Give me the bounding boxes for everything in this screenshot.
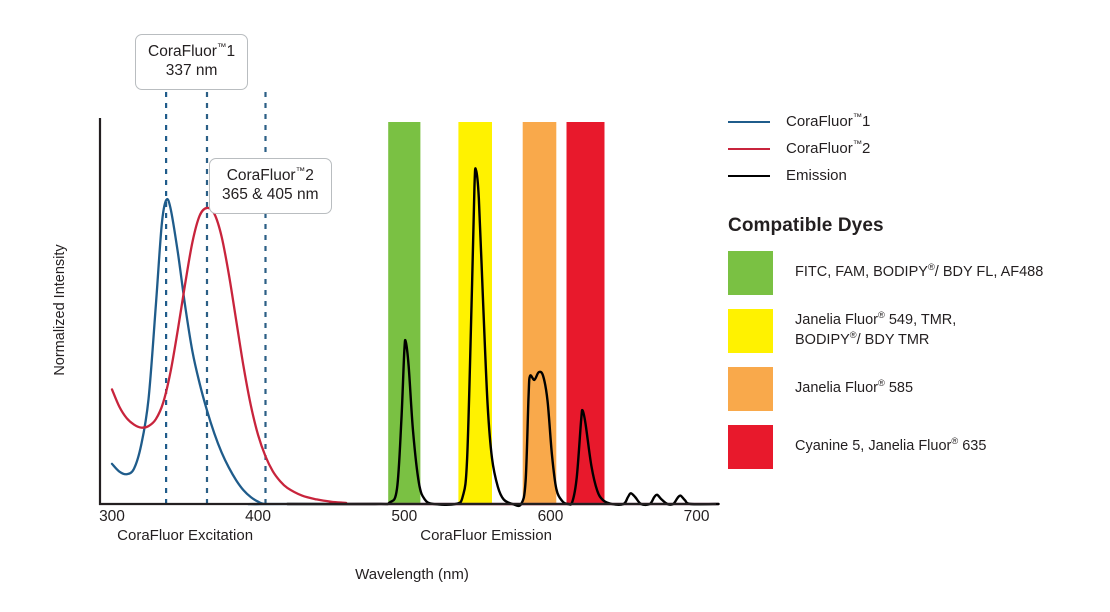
x-tick-600: 600 [538,508,564,526]
dye-label: Janelia Fluor® 549, TMR,BODIPY®/ BDY TMR [795,311,956,350]
dye-label-line: FITC, FAM, BODIPY®/ BDY FL, AF488 [795,263,1043,283]
dye-label-suffix: 585 [885,380,913,396]
callout-cf1-line1: CoraFluor™1 [148,42,235,61]
dye-label: FITC, FAM, BODIPY®/ BDY FL, AF488 [795,263,1043,283]
registered-trademark-icon: ® [878,311,885,321]
legend-line-swatch [728,175,770,177]
x-tick-700: 700 [684,508,710,526]
dye-label-line: Cyanine 5, Janelia Fluor® 635 [795,437,986,457]
x-axis-title: Wavelength (nm) [355,566,469,583]
dye-label-text: Cyanine 5, Janelia Fluor [795,438,951,454]
region-label-emission: CoraFluor Emission [420,527,552,544]
curve-emission [287,168,718,506]
legend-label-text: Emission [786,167,847,184]
compatible-dyes-list: FITC, FAM, BODIPY®/ BDY FL, AF488Janelia… [728,251,1100,469]
callout-cf1-line2: 337 nm [148,61,235,80]
dye-label-line: BODIPY®/ BDY TMR [795,331,956,351]
registered-trademark-icon: ® [878,378,885,388]
dye-row-3[interactable]: Cyanine 5, Janelia Fluor® 635 [728,425,1100,469]
dye-label-text: BODIPY [795,332,850,348]
dye-label: Janelia Fluor® 585 [795,379,913,399]
dye-label: Cyanine 5, Janelia Fluor® 635 [795,437,986,457]
curve-legend: CoraFluor™1CoraFluor™2Emission [728,108,1100,189]
callout-cf2-line2: 365 & 405 nm [222,185,319,204]
legend-item-label: CoraFluor™2 [786,140,870,157]
region-label-excitation: CoraFluor Excitation [117,527,253,544]
trademark-icon: ™ [853,112,862,122]
callout-cf2-line1: CoraFluor™2 [222,166,319,185]
y-axis-title: Normalized Intensity [52,244,68,375]
x-tick-400: 400 [245,508,271,526]
dye-label-text: Janelia Fluor [795,312,878,328]
trademark-icon: ™ [296,166,306,177]
dye-row-2[interactable]: Janelia Fluor® 585 [728,367,1100,411]
dye-color-swatch [728,251,773,295]
dye-color-swatch [728,367,773,411]
red-band [567,122,605,504]
legend-item-label: CoraFluor™1 [786,113,870,130]
legend-item-2[interactable]: Emission [728,162,1100,189]
callout-corafluor-2: CoraFluor™2 365 & 405 nm [209,158,332,214]
legend-item-1[interactable]: CoraFluor™2 [728,135,1100,162]
compatible-dyes-heading: Compatible Dyes [728,215,1100,237]
dye-label-line: Janelia Fluor® 585 [795,379,913,399]
dye-row-1[interactable]: Janelia Fluor® 549, TMR,BODIPY®/ BDY TMR [728,309,1100,353]
legend-label-suffix: 1 [862,113,870,130]
legend-line-swatch [728,121,770,123]
legend-item-0[interactable]: CoraFluor™1 [728,108,1100,135]
dye-label-line: Janelia Fluor® 549, TMR, [795,311,956,331]
dye-label-suffix: 549, TMR, [885,312,956,328]
x-tick-500: 500 [391,508,417,526]
dye-label-text: FITC, FAM, BODIPY [795,264,928,280]
legend-label-text: CoraFluor [786,113,853,130]
dye-label-suffix: 635 [958,438,986,454]
registered-trademark-icon: ® [850,330,857,340]
registered-trademark-icon: ® [928,262,935,272]
legend-item-label: Emission [786,167,847,184]
legend-panel: CoraFluor™1CoraFluor™2Emission Compatibl… [728,108,1100,483]
dye-label-text: Janelia Fluor [795,380,878,396]
legend-label-suffix: 2 [862,140,870,157]
dye-label-suffix: / BDY FL, AF488 [935,264,1044,280]
legend-line-swatch [728,148,770,150]
trademark-icon: ™ [217,42,227,53]
callout-corafluor-1: CoraFluor™1 337 nm [135,34,248,90]
fluorescence-spectra-chart: CoraFluor™1 337 nm CoraFluor™2 365 & 405… [0,0,1110,612]
x-tick-300: 300 [99,508,125,526]
dye-label-suffix: / BDY TMR [857,332,930,348]
dye-row-0[interactable]: FITC, FAM, BODIPY®/ BDY FL, AF488 [728,251,1100,295]
legend-label-text: CoraFluor [786,140,853,157]
dye-color-swatch [728,309,773,353]
dye-color-swatch [728,425,773,469]
trademark-icon: ™ [853,139,862,149]
